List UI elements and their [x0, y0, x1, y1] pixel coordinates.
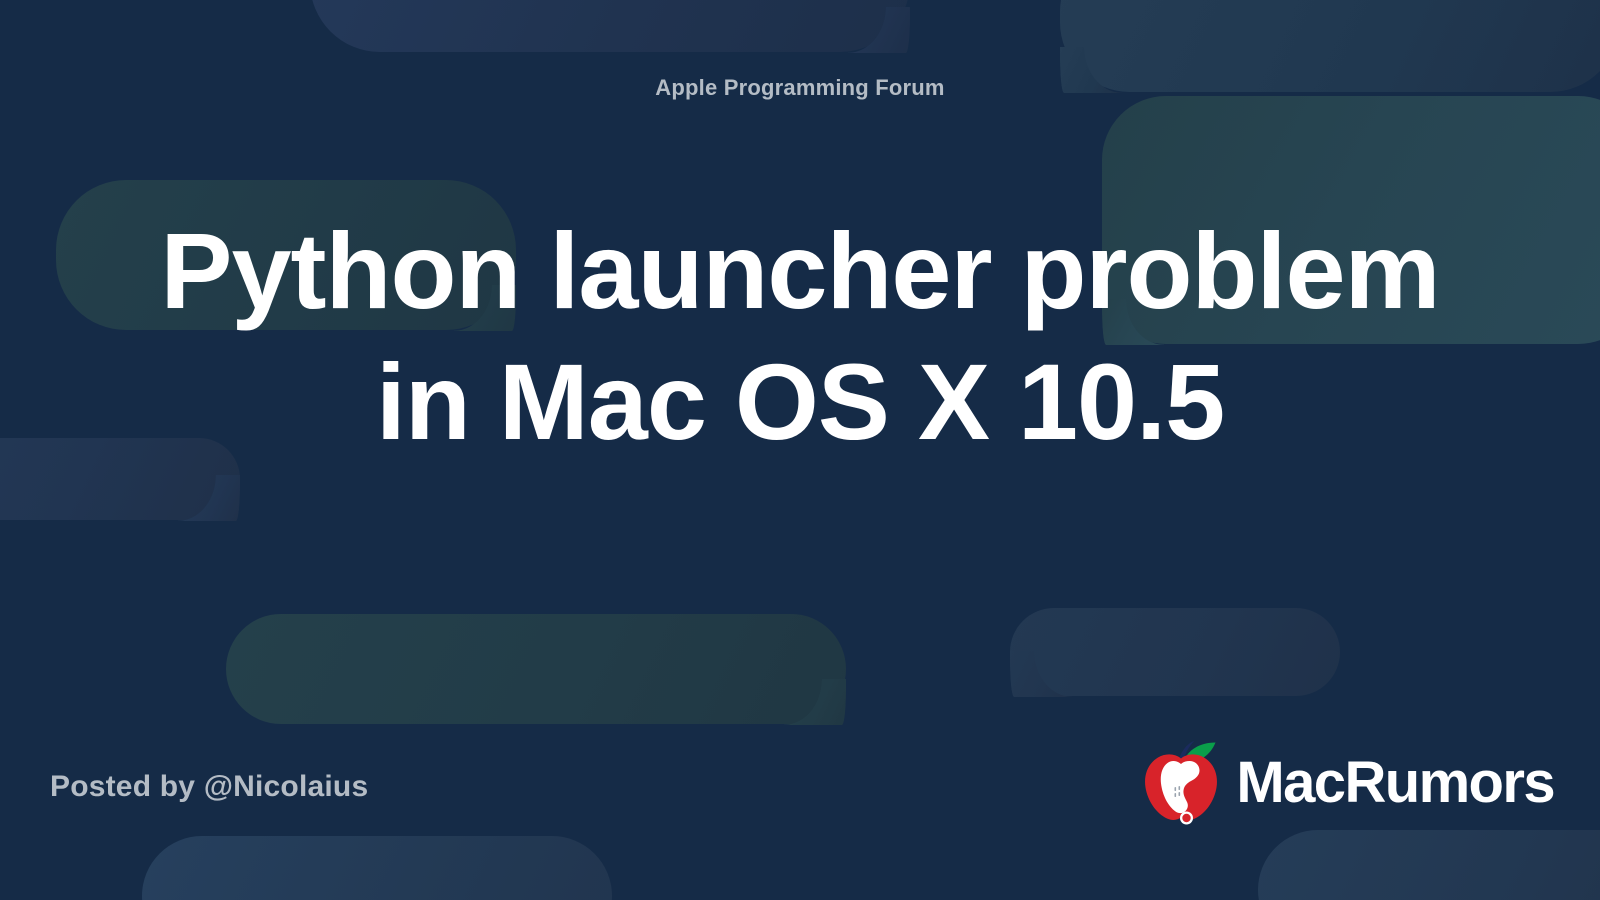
chat-bubble-shape — [1258, 830, 1600, 900]
forum-name: Apple Programming Forum — [0, 75, 1600, 101]
chat-bubble-shape — [226, 614, 846, 724]
macrumors-apple-logo-icon — [1134, 734, 1230, 831]
chat-bubble-shape — [142, 836, 612, 900]
forum-share-card: Apple Programming Forum Python launcher … — [0, 0, 1600, 900]
page-title: Python launcher problem in Mac OS X 10.5 — [110, 206, 1490, 467]
posted-by-label: Posted by @Nicolaius — [50, 770, 368, 804]
chat-bubble-shape — [1010, 608, 1340, 696]
chat-bubble-shape — [310, 0, 910, 52]
macrumors-brand-lockup: MacRumors — [1134, 734, 1554, 831]
macrumors-wordmark: MacRumors — [1236, 754, 1554, 812]
